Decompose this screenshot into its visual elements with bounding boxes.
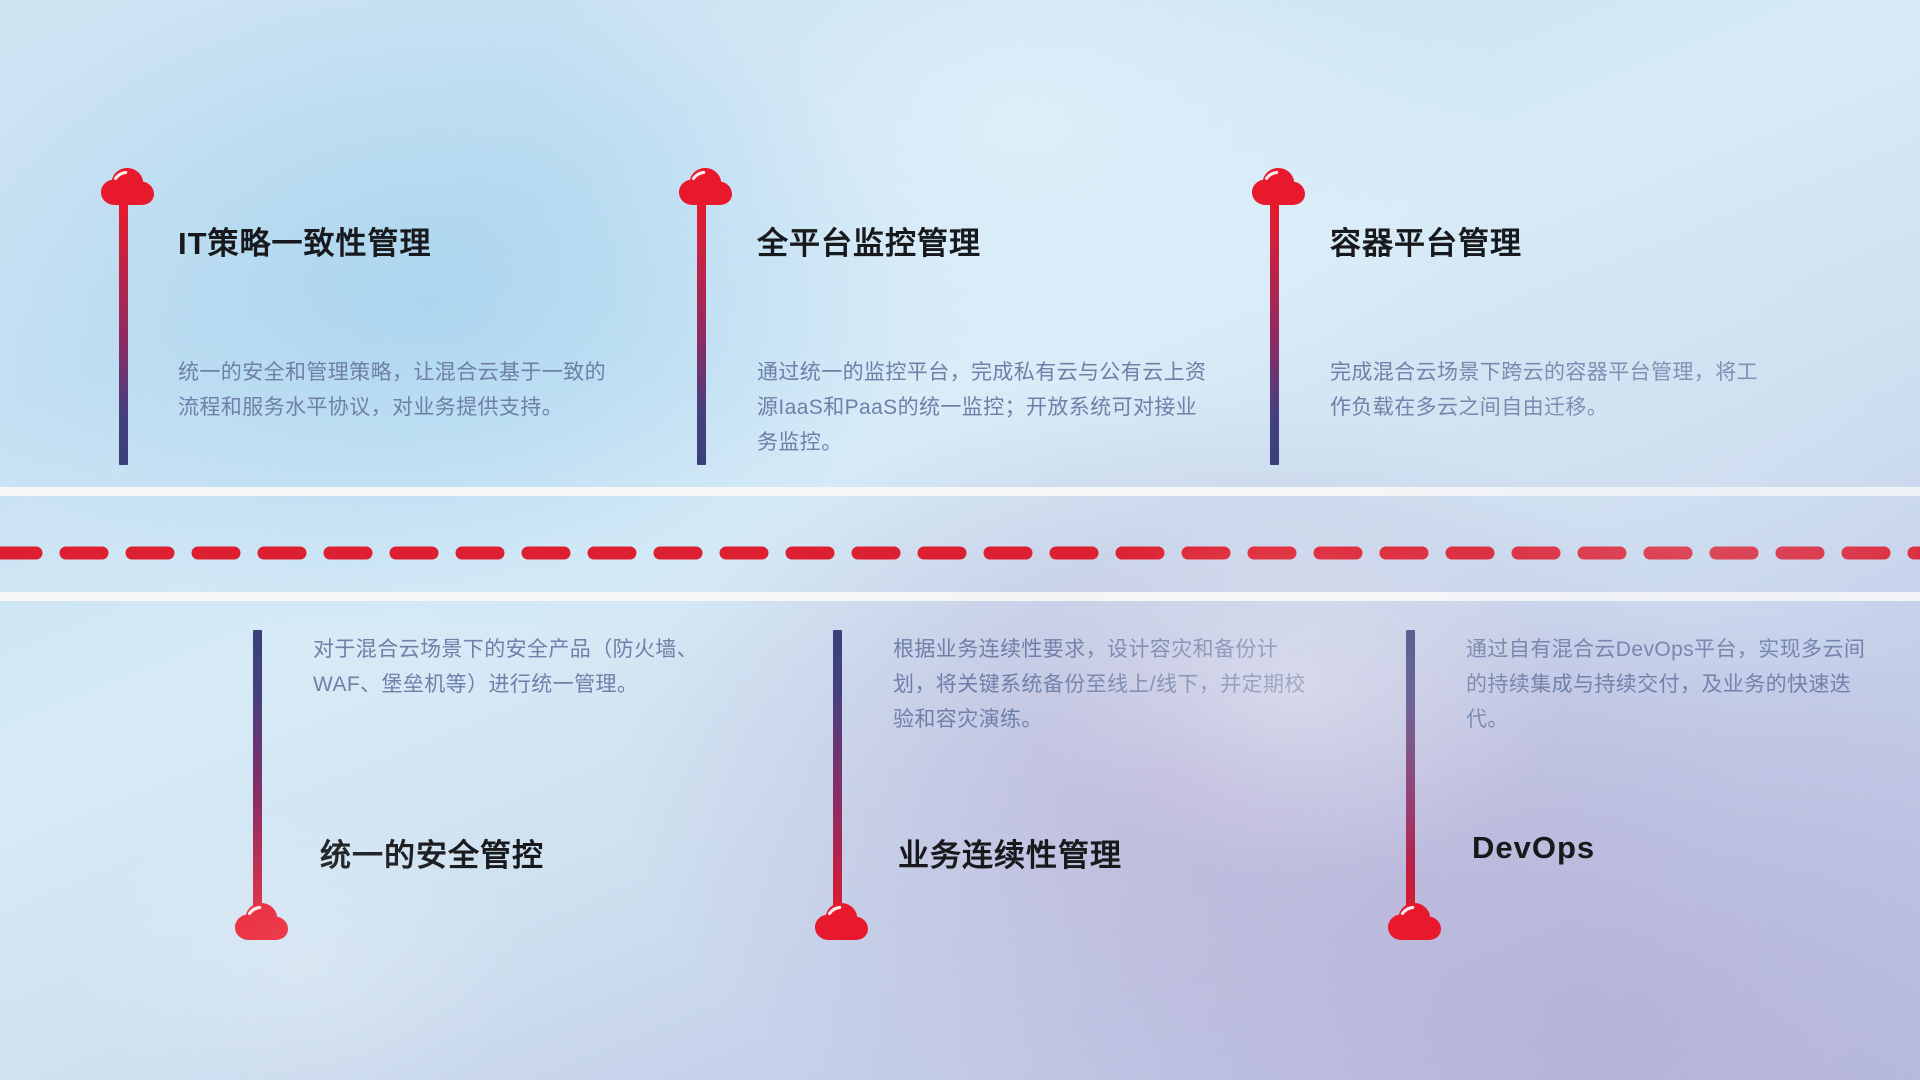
infographic-canvas: IT策略一致性管理 统一的安全和管理策略，让混合云基于一致的流程和服务水平协议，… <box>0 0 1920 1080</box>
dashed-divider <box>0 545 1920 561</box>
card-heading: 统一的安全管控 <box>320 830 544 875</box>
card-body: 完成混合云场景下跨云的容器平台管理，将工作负载在多云之间自由迁移。 <box>1330 355 1760 425</box>
divider-band-top <box>0 487 1920 496</box>
cloud-icon <box>1385 897 1447 941</box>
cloud-icon <box>232 897 294 941</box>
accent-bar <box>253 630 262 915</box>
card-body: 通过统一的监控平台，完成私有云与公有云上资源IaaS和PaaS的统一监控；开放系… <box>757 355 1212 460</box>
cloud-icon <box>812 897 874 941</box>
accent-bar <box>697 200 706 465</box>
accent-bar <box>1270 200 1279 465</box>
cloud-icon <box>1249 162 1311 206</box>
card-body: 通过自有混合云DevOps平台，实现多云间的持续集成与持续交付，及业务的快速迭代… <box>1466 632 1886 737</box>
card-heading: IT策略一致性管理 <box>178 218 432 263</box>
cloud-icon <box>98 162 160 206</box>
divider-band-bottom <box>0 592 1920 601</box>
card-heading: 容器平台管理 <box>1330 218 1522 263</box>
card-body: 根据业务连续性要求，设计容灾和备份计划，将关键系统备份至线上/线下，并定期校验和… <box>893 632 1318 737</box>
accent-bar <box>1406 630 1415 915</box>
cloud-icon <box>676 162 738 206</box>
card-heading: DevOps <box>1472 830 1595 866</box>
card-heading: 业务连续性管理 <box>898 830 1122 875</box>
accent-bar <box>119 200 128 465</box>
card-heading: 全平台监控管理 <box>757 218 981 263</box>
accent-bar <box>833 630 842 915</box>
card-body: 统一的安全和管理策略，让混合云基于一致的流程和服务水平协议，对业务提供支持。 <box>178 355 613 425</box>
card-body: 对于混合云场景下的安全产品（防火墙、WAF、堡垒机等）进行统一管理。 <box>313 632 743 702</box>
